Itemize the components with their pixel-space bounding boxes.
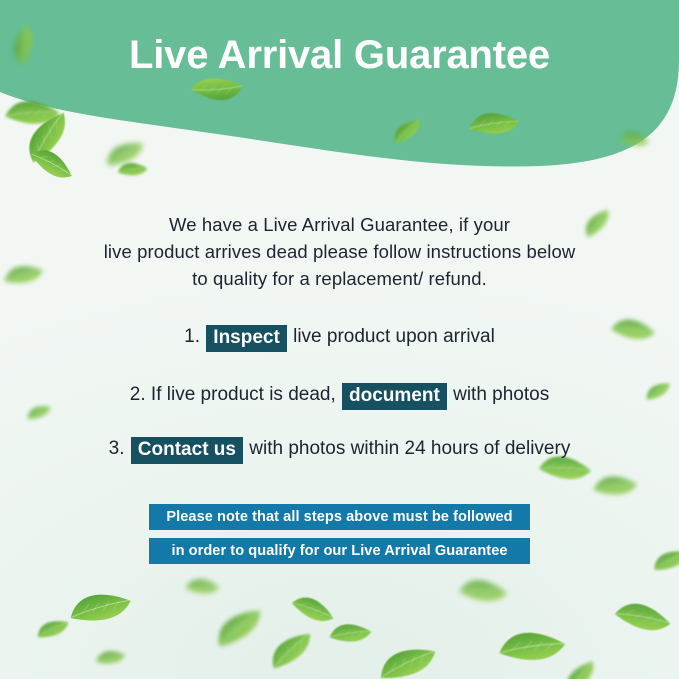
notice-bar-1: Please note that all steps above must be… (149, 504, 530, 530)
content-area: We have a Live Arrival Guarantee, if you… (0, 0, 679, 679)
step-text-2-after: with photos (453, 384, 549, 405)
step-item-1: 1. Inspect live product upon arrival (0, 324, 679, 351)
guarantee-graphic: Live Arrival Guarantee We have a Live Ar… (0, 0, 679, 679)
step-number-1: 1. (184, 326, 200, 347)
step-highlight-inspect: Inspect (206, 325, 287, 352)
step-text-2-before: If live product is dead, (151, 384, 336, 405)
intro-paragraph: We have a Live Arrival Guarantee, if you… (50, 211, 629, 292)
step-highlight-document: document (342, 383, 447, 410)
step-highlight-contact-us: Contact us (131, 437, 243, 464)
step-number-3: 3. (109, 438, 125, 459)
notice-bar-2: in order to qualify for our Live Arrival… (149, 538, 530, 564)
intro-line-3: to quality for a replacement/ refund. (50, 265, 629, 292)
step-text-3: with photos within 24 hours of delivery (249, 438, 570, 459)
step-item-3: 3. Contact us with photos within 24 hour… (0, 436, 679, 463)
intro-line-1: We have a Live Arrival Guarantee, if you… (50, 211, 629, 238)
step-number-2: 2. (130, 384, 146, 405)
step-text-1: live product upon arrival (293, 326, 495, 347)
intro-line-2: live product arrives dead please follow … (50, 238, 629, 265)
step-item-2: 2. If live product is dead, document wit… (0, 382, 679, 409)
